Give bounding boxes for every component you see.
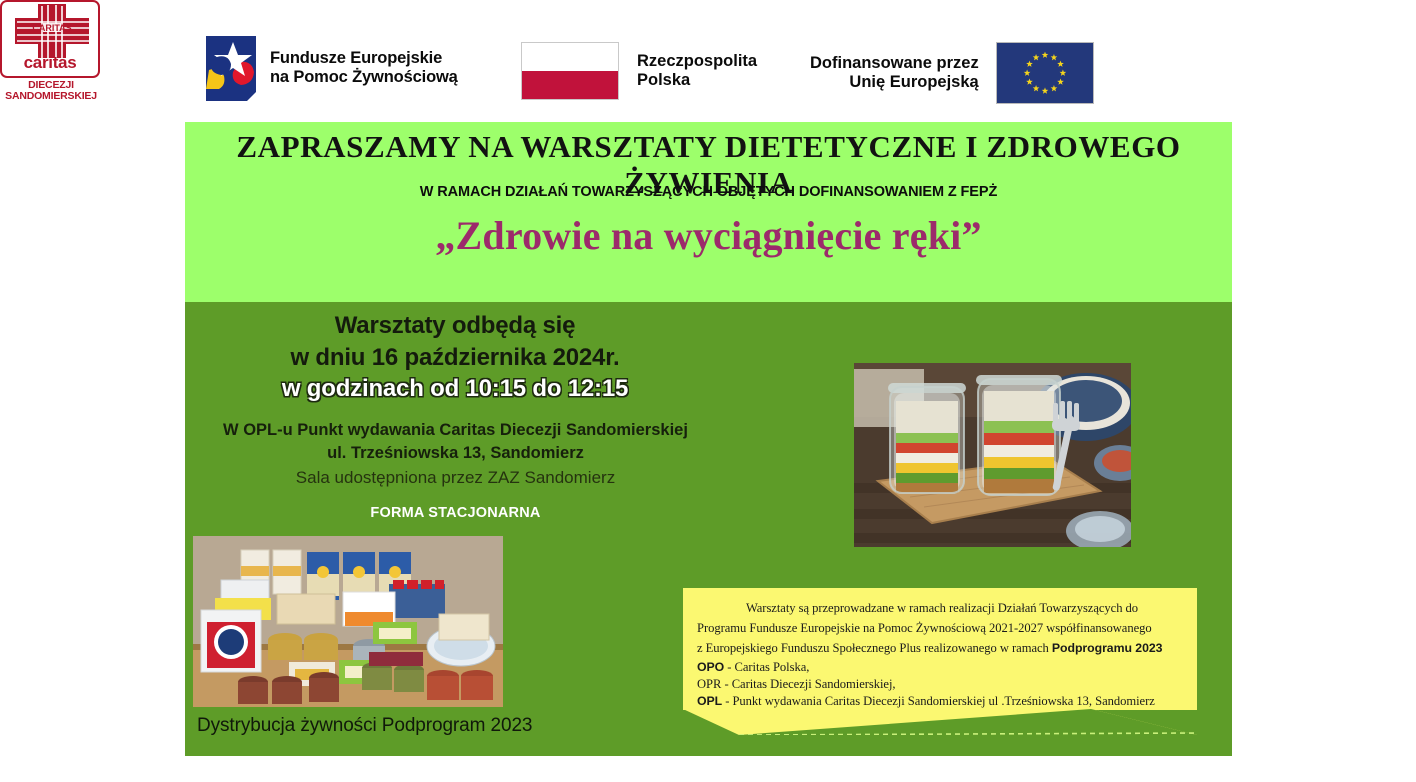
where-line-3: Sala udostępniona przez ZAZ Sandomierz	[203, 466, 708, 490]
food-photo-caption: Dystrybucja żywności Podprogram 2023	[197, 715, 532, 737]
opl-text: - Punkt wydawania Caritas Diecezji Sando…	[722, 694, 1155, 708]
header-logo-strip: Fundusze Europejskie na Pomoc Żywnościow…	[0, 0, 1416, 122]
opl-bold: OPL	[697, 694, 722, 708]
funding-callout: Warsztaty są przeprowadzane w ramach rea…	[683, 588, 1197, 734]
unia-europejska-caption: Dofinansowane przez Unię Europejską	[810, 54, 979, 93]
fundusze-europejskie-logo-block: Fundusze Europejskie na Pomoc Żywnościow…	[203, 32, 458, 104]
when-line-2: w dniu 16 października 2024r.	[205, 342, 705, 374]
slogan-text: „Zdrowie na wyciągnięcie ręki”	[185, 212, 1232, 259]
title-banner: ZAPRASZAMY NA WARSZTATY DIETETYCZNE I ZD…	[185, 122, 1232, 302]
caritas-cross-logo-icon: CARITAS caritas	[0, 0, 100, 78]
eu-flag-icon	[996, 42, 1094, 104]
when-line-3: w godzinach od 10:15 do 12:15	[205, 373, 705, 405]
caritas-wordmark: caritas	[2, 53, 98, 73]
opo-text: - Caritas Polska,	[724, 660, 809, 674]
page-subtitle: W RAMACH DZIAŁAŃ TOWARZYSZĄCYCH OBJĘTYCH…	[185, 184, 1232, 200]
rzeczpospolita-logo-block: Rzeczpospolita Polska	[521, 42, 757, 100]
callout-line-3: z Europejskiego Funduszu Społecznego Plu…	[697, 642, 1187, 655]
opo-bold: OPO	[697, 660, 724, 674]
salad-jars-photo	[854, 363, 1131, 547]
callout-tail-icon	[683, 709, 1197, 735]
workshop-where-block: W OPL-u Punkt wydawania Caritas Diecezji…	[203, 419, 708, 490]
callout-line-3-text: z Europejskiego Funduszu Społecznego Plu…	[697, 641, 1052, 655]
fundusze-europejskie-star-logo-icon	[203, 32, 259, 104]
body-panel: Warsztaty odbędą się w dniu 16 październ…	[185, 302, 1232, 756]
svg-text:CARITAS: CARITAS	[32, 23, 71, 33]
where-line-2: ul. Trześniowska 13, Sandomierz	[203, 442, 708, 465]
caritas-logo-block: CARITAS caritas DIECEZJI SANDOMIERSKIEJ	[0, 0, 102, 103]
forma-stacjonarna-label: FORMA STACJONARNA	[203, 505, 708, 521]
rzeczpospolita-caption: Rzeczpospolita Polska	[637, 52, 757, 91]
fundusze-europejskie-caption: Fundusze Europejskie na Pomoc Żywnościow…	[270, 49, 458, 88]
polish-flag-icon	[521, 42, 619, 100]
podprogram-bold: Podprogramu 2023	[1052, 641, 1163, 655]
callout-line-1: Warsztaty są przeprowadzane w ramach rea…	[697, 602, 1187, 615]
funding-callout-body: Warsztaty są przeprowadzane w ramach rea…	[683, 588, 1197, 710]
unia-europejska-logo-block: Dofinansowane przez Unię Europejską	[810, 42, 1094, 104]
caritas-diocese-label: DIECEZJI SANDOMIERSKIEJ	[0, 80, 102, 103]
when-line-1: Warsztaty odbędą się	[205, 310, 705, 342]
callout-line-opl: OPL - Punkt wydawania Caritas Diecezji S…	[697, 695, 1187, 708]
callout-line-opo: OPO - Caritas Polska,	[697, 661, 1187, 674]
callout-line-opr: OPR - Caritas Diecezji Sandomierskiej,	[697, 678, 1187, 691]
callout-line-2: Programu Fundusze Europejskie na Pomoc Ż…	[697, 622, 1187, 635]
food-packages-photo	[193, 536, 503, 707]
where-line-1: W OPL-u Punkt wydawania Caritas Diecezji…	[203, 419, 708, 442]
workshop-when-block: Warsztaty odbędą się w dniu 16 październ…	[205, 310, 705, 405]
